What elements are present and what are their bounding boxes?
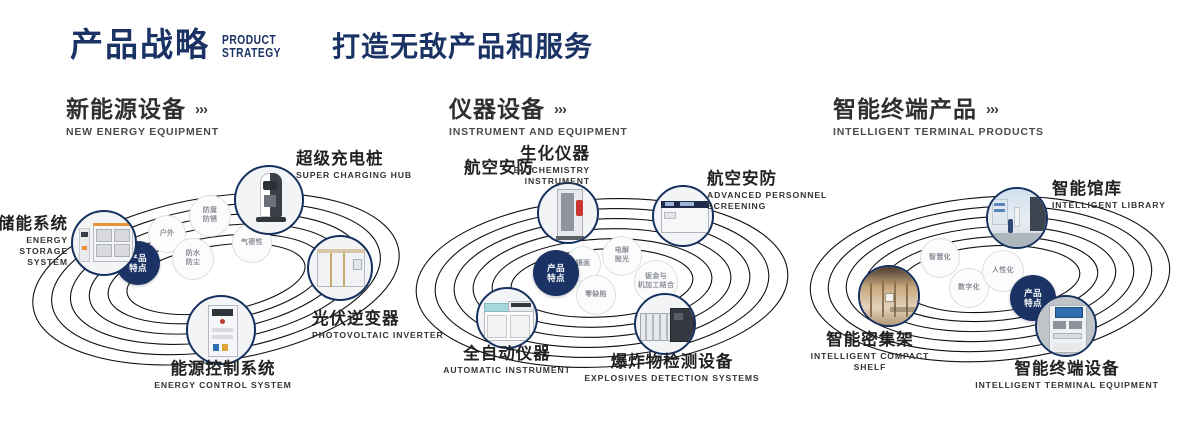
section-title-en: NEW ENERGY EQUIPMENT [66,126,219,138]
section-title-en: INTELLIGENT TERMINAL PRODUCTS [833,126,1044,138]
page-title-cn: 产品战略 [70,28,210,61]
chevron-right-icon: ››› [195,102,207,117]
node-intelligent-terminal-equipment[interactable] [1035,295,1097,357]
page-title: 产品战略 PRODUCT STRATEGY [70,28,294,61]
node-label-biochemistry-instrument: 生化仪器 BIOCHEMISTRY INSTRUMENT [418,145,590,187]
page-slogan: 打造无敌产品和服务 [332,32,593,63]
node-label-automatic-instrument: 全自动仪器 AUTOMATIC INSTRUMENT [430,345,584,376]
feature-label: 电解 抛光 [615,247,630,264]
node-advanced-personnel-screening[interactable] [652,185,714,247]
feature-label: 钣金与 机加工结合 [638,273,675,290]
node-intelligent-compact-shelf[interactable] [858,265,920,327]
section-title-cn: 新能源设备 [66,96,186,122]
feature-label: 智慧化 [929,254,951,263]
node-label-intelligent-compact-shelf: 智能密集架 INTELLIGENT COMPACT SHELF [770,331,970,373]
node-label-intelligent-library: 智能馆库 INTELLIGENT LIBRARY [1052,180,1200,211]
node-label-energy-control-system: 能源控制系统 ENERGY CONTROL SYSTEM [118,360,328,391]
feature-label: 防水 防尘 [186,250,201,267]
cluster-intelligent-terminal: 智慧化 数字化 人性化 产品 特点 智能馆库 INTELLIGENT LIBRA… [790,155,1190,405]
node-biochemistry-instrument[interactable] [537,182,599,244]
node-photovoltaic-inverter[interactable] [307,235,373,301]
section-heading-intelligent-terminal: 智能终端产品 ››› INTELLIGENT TERMINAL PRODUCTS [833,96,1044,138]
node-label-intelligent-terminal-equipment: 智能终端设备 INTELLIGENT TERMINAL EQUIPMENT [962,360,1172,391]
chevron-right-icon: ››› [986,102,998,117]
feature-label: 防腐 防锈 [203,207,218,224]
cluster-new-energy: 户外 防腐 防锈 防水 防尘 气密性 产品 特点 储能系统 ENERGY STO… [20,155,420,405]
feature-bubble: 防水 防尘 [172,238,214,280]
section-heading-instrument: 仪器设备 ››› INSTRUMENT AND EQUIPMENT [449,96,628,138]
chevron-right-icon: ››› [554,102,566,117]
node-energy-storage-system[interactable] [71,210,137,276]
node-super-charging-hub[interactable] [234,165,304,235]
node-label-explosives-detection: 爆炸物检测设备 EXPLOSIVES DETECTION SYSTEMS [582,353,762,384]
center-bubble-label: 产品 特点 [547,263,565,283]
section-title-en: INSTRUMENT AND EQUIPMENT [449,126,628,138]
section-title-cn: 智能终端产品 [833,96,977,122]
node-label-energy-storage-system: 储能系统 ENERGY STORAGE SYSTEM [0,215,68,268]
feature-label: 零缺陷 [585,291,607,300]
center-bubble-product-features: 产品 特点 [533,250,579,296]
section-title-cn: 仪器设备 [449,96,545,122]
section-heading-new-energy: 新能源设备 ››› NEW ENERGY EQUIPMENT [66,96,219,138]
node-intelligent-library[interactable] [986,187,1048,249]
infographic-canvas: 产品战略 PRODUCT STRATEGY 打造无敌产品和服务 新能源设备 ››… [0,0,1200,422]
feature-label: 人性化 [992,267,1014,276]
feature-label: 户外 [160,230,175,239]
feature-label: 数字化 [958,284,980,293]
node-automatic-instrument[interactable] [476,287,538,349]
feature-bubble: 防腐 防锈 [189,195,231,237]
node-explosives-detection[interactable] [634,293,696,355]
page-title-en: PRODUCT STRATEGY [222,34,281,60]
feature-label: 气密性 [241,239,263,248]
feature-bubble: 智慧化 [920,238,960,278]
cluster-instrument: 镜面 电解 抛光 零缺陷 钣金与 机加工结合 产品 特点 航空安防 生化仪器 B… [402,155,802,405]
node-energy-control-system[interactable] [186,295,256,365]
feature-bubble: 零缺陷 [576,275,616,315]
